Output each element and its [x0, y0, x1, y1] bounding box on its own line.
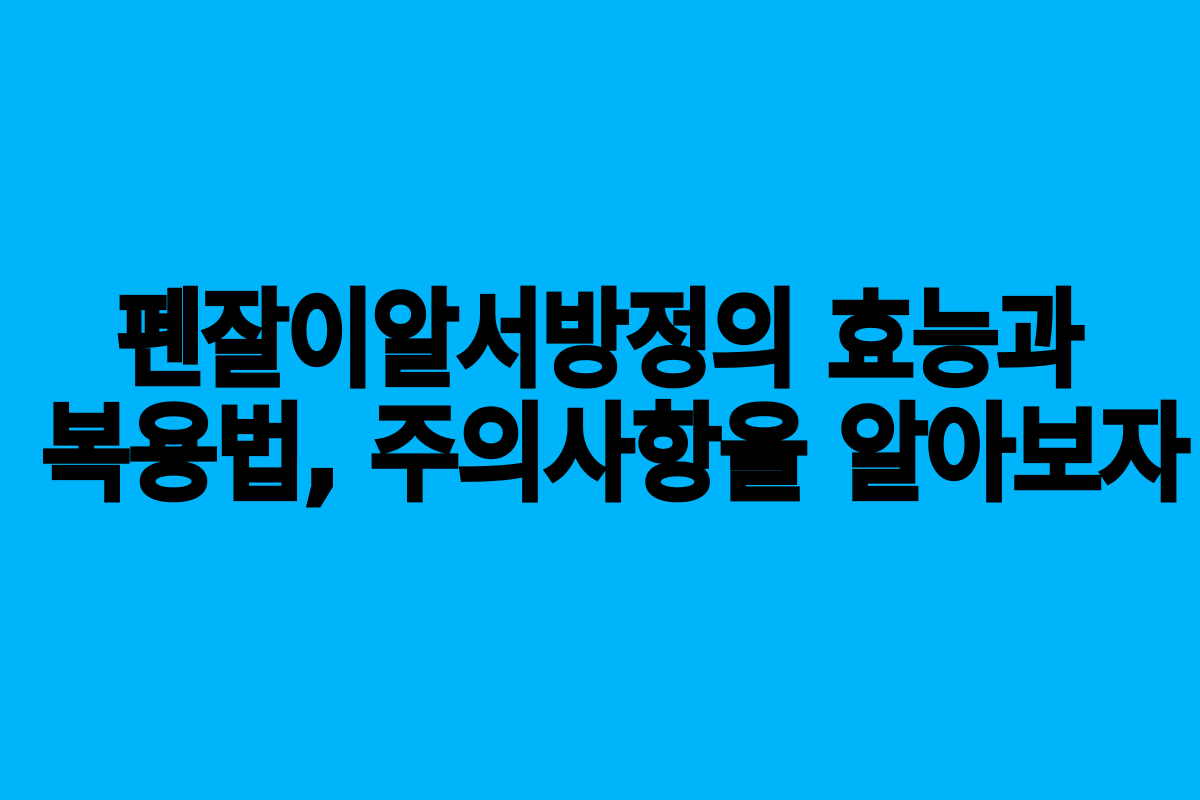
title-line-1: 펜잘이알서방정의 효능과 [57, 284, 1143, 396]
banner-canvas: 펜잘이알서방정의 효능과 복용법, 주의사항을 알아보자 [0, 0, 1200, 800]
page-title: 펜잘이알서방정의 효능과 복용법, 주의사항을 알아보자 [0, 284, 1200, 510]
title-line-2: 복용법, 주의사항을 알아보자 [42, 398, 1158, 510]
